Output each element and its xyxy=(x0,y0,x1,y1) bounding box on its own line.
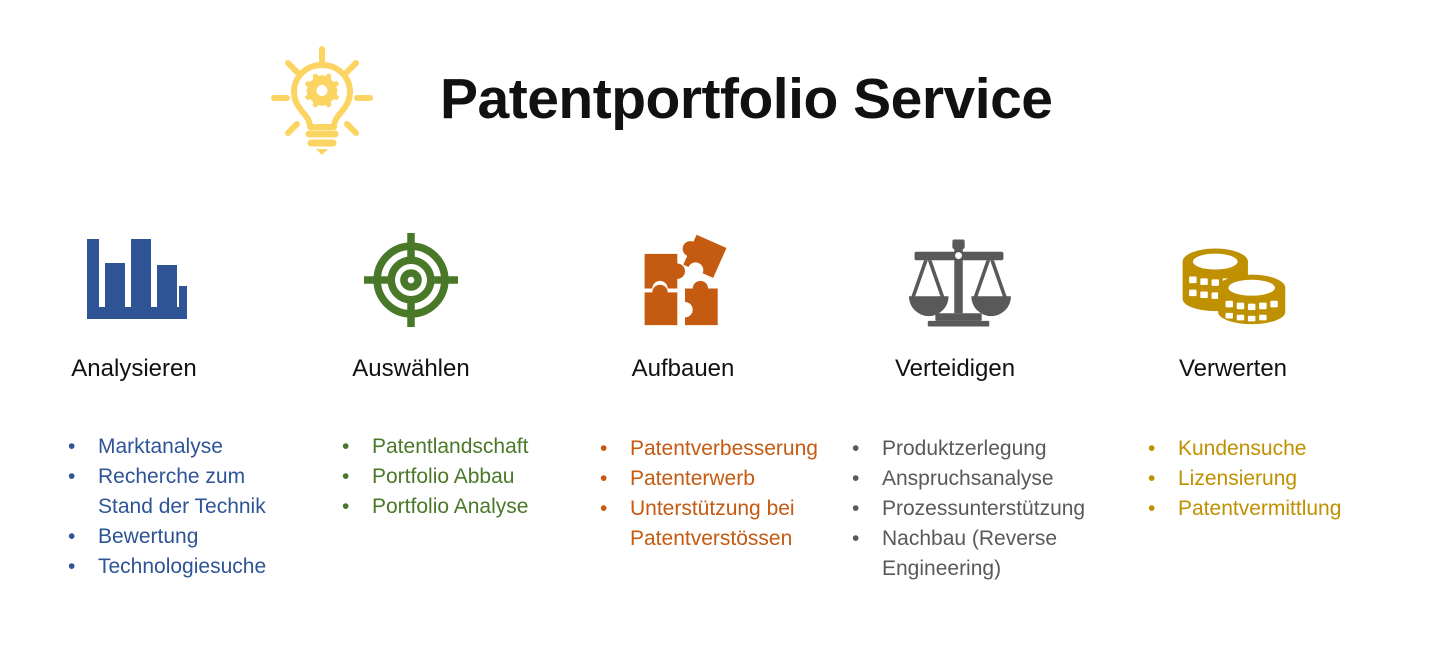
page-title: Patentportfolio Service xyxy=(440,71,1052,128)
list-item: • Lizensierung xyxy=(1138,464,1370,494)
list-item: • Marktanalyse xyxy=(58,432,274,462)
list-item: • Produktzerlegung xyxy=(842,434,1096,464)
column-auswaehlen: Auswählen • Patentlandschaft • Portfolio… xyxy=(274,222,548,522)
list-item: • Kundensuche xyxy=(1138,434,1370,464)
service-columns: Analysieren • Marktanalyse • Recherche z… xyxy=(0,222,1454,583)
list-item: • Patenterwerb xyxy=(590,464,822,494)
bullet-icon: • xyxy=(600,464,607,494)
target-crosshair-icon xyxy=(364,233,458,332)
lightbulb-gear-icon xyxy=(266,43,378,155)
column-icon-wrapper xyxy=(635,222,735,332)
column-verteidigen: Verteidigen • Produktzerlegung • Anspruc… xyxy=(822,222,1096,583)
column-list: • Patentverbesserung • Patenterwerb • Un… xyxy=(548,434,822,553)
puzzle-pieces-icon xyxy=(635,227,735,332)
list-item-label: Anspruchsanalyse xyxy=(882,467,1054,490)
bullet-icon: • xyxy=(1148,464,1155,494)
bullet-icon: • xyxy=(342,462,349,492)
page-header: Patentportfolio Service xyxy=(0,34,1454,164)
column-heading: Auswählen xyxy=(352,356,469,382)
list-item: • Patentlandschaft xyxy=(332,432,548,462)
bullet-icon: • xyxy=(600,434,607,464)
column-analysieren: Analysieren • Marktanalyse • Recherche z… xyxy=(0,222,274,581)
bullet-icon: • xyxy=(68,462,75,492)
column-list: • Marktanalyse • Recherche zum Stand der… xyxy=(0,432,274,581)
bullet-icon: • xyxy=(68,432,75,462)
column-list: • Produktzerlegung • Anspruchsanalyse • … xyxy=(822,434,1096,583)
column-icon-wrapper xyxy=(364,222,458,332)
bullet-icon: • xyxy=(68,522,75,552)
column-list: • Kundensuche • Lizensierung • Patentver… xyxy=(1096,434,1370,523)
bullet-icon: • xyxy=(1148,494,1155,524)
list-item-label: Nachbau (Reverse Engineering) xyxy=(882,527,1057,580)
list-item-label: Bewertung xyxy=(98,525,198,548)
column-list: • Patentlandschaft • Portfolio Abbau • P… xyxy=(274,432,548,521)
column-icon-wrapper xyxy=(87,222,187,332)
list-item-label: Unterstützung bei Patentverstössen xyxy=(630,497,795,550)
column-heading: Analysieren xyxy=(71,356,196,382)
list-item-label: Technologiesuche xyxy=(98,555,266,578)
bullet-icon: • xyxy=(68,552,75,582)
list-item-label: Marktanalyse xyxy=(98,435,223,458)
column-heading: Aufbauen xyxy=(632,356,735,382)
bullet-icon: • xyxy=(852,524,859,554)
list-item: • Patentvermittlung xyxy=(1138,494,1370,524)
column-icon-wrapper xyxy=(907,222,1011,332)
list-item-label: Recherche zum Stand der Technik xyxy=(98,465,266,518)
list-item: • Prozessunterstützung xyxy=(842,494,1096,524)
bullet-icon: • xyxy=(852,494,859,524)
bullet-icon: • xyxy=(342,492,349,522)
list-item: • Bewertung xyxy=(58,522,274,552)
bullet-icon: • xyxy=(600,494,607,524)
list-item: • Portfolio Abbau xyxy=(332,462,548,492)
bullet-icon: • xyxy=(852,464,859,494)
column-aufbauen: Aufbauen • Patentverbesserung • Patenter… xyxy=(548,222,822,554)
list-item-label: Patentverbesserung xyxy=(630,437,818,460)
list-item-label: Patentlandschaft xyxy=(372,435,528,458)
list-item-label: Prozessunterstützung xyxy=(882,497,1085,520)
list-item-label: Produktzerlegung xyxy=(882,437,1047,460)
column-heading: Verwerten xyxy=(1179,356,1287,382)
list-item-label: Kundensuche xyxy=(1178,437,1306,460)
balance-scales-icon xyxy=(907,239,1011,332)
bullet-icon: • xyxy=(1148,434,1155,464)
list-item-label: Portfolio Analyse xyxy=(372,495,528,518)
column-icon-wrapper xyxy=(1177,222,1289,332)
bullet-icon: • xyxy=(852,434,859,464)
bar-chart-icon xyxy=(87,231,187,332)
list-item: • Portfolio Analyse xyxy=(332,492,548,522)
list-item-label: Lizensierung xyxy=(1178,467,1297,490)
list-item: • Technologiesuche xyxy=(58,552,274,582)
coin-stacks-icon xyxy=(1177,241,1289,332)
list-item: • Anspruchsanalyse xyxy=(842,464,1096,494)
list-item: • Recherche zum Stand der Technik xyxy=(58,462,274,522)
bullet-icon: • xyxy=(342,432,349,462)
column-heading: Verteidigen xyxy=(895,356,1015,382)
list-item: • Patentverbesserung xyxy=(590,434,822,464)
list-item: • Unterstützung bei Patentverstössen xyxy=(590,494,822,554)
list-item-label: Patentvermittlung xyxy=(1178,497,1341,520)
list-item-label: Patenterwerb xyxy=(630,467,755,490)
list-item-label: Portfolio Abbau xyxy=(372,465,514,488)
list-item: • Nachbau (Reverse Engineering) xyxy=(842,524,1096,584)
column-verwerten: Verwerten • Kundensuche • Lizensierung •… xyxy=(1096,222,1370,524)
